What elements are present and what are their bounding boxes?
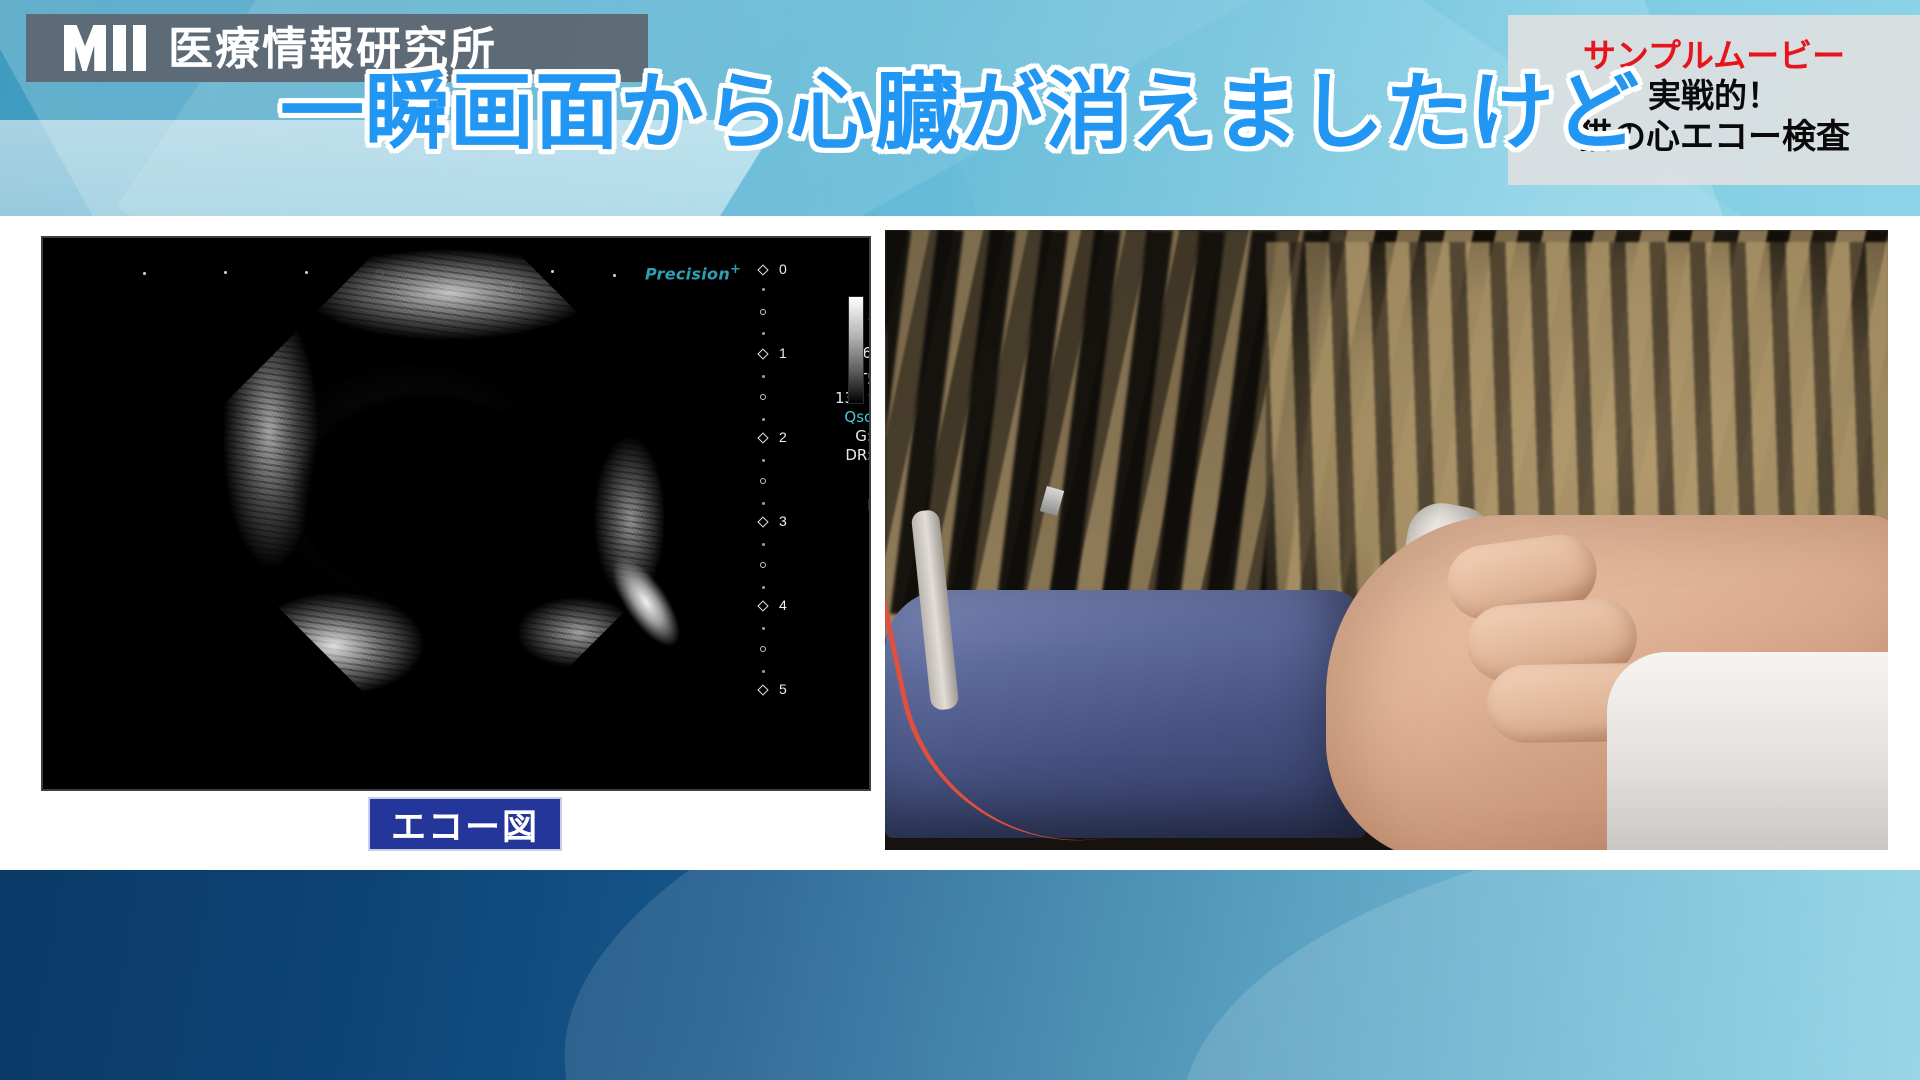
ultrasound-brand-plus: + <box>730 262 741 277</box>
subtitle-text: 一瞬画面から心臓が消えましたけど <box>0 0 1920 210</box>
ultrasound-panel: T Precision+ MI 1.0 6S3 T5.8 136 fps Qsc… <box>41 236 871 791</box>
ultrasound-brand-label: Precision+ <box>645 262 741 283</box>
screen-root: 医療情報研究所 サンプルムービー 実戦的！ 猫の心エコー検査 T Precisi… <box>0 0 1920 1080</box>
ultrasound-grayscale-bar <box>848 296 864 404</box>
depth-tick-4: 4 <box>779 597 787 613</box>
ultrasound-sector-image <box>149 236 750 783</box>
depth-tick-5: 5 <box>779 681 787 697</box>
depth-tick-3: 3 <box>779 513 787 529</box>
examiner-sleeve <box>1607 652 1888 850</box>
echo-diagram-label: エコー図 <box>368 797 562 851</box>
subtitle-band <box>0 870 1920 1080</box>
ultrasound-depth-ruler: 0 1 2 3 4 5 <box>759 266 819 766</box>
depth-tick-2: 2 <box>779 429 787 445</box>
ultrasound-speckle-layer <box>149 236 750 776</box>
cat-examination-photo <box>885 230 1888 850</box>
depth-tick-1: 1 <box>779 345 787 361</box>
ultrasound-brand-text: Precision <box>645 264 730 283</box>
depth-tick-0: 0 <box>779 261 787 277</box>
